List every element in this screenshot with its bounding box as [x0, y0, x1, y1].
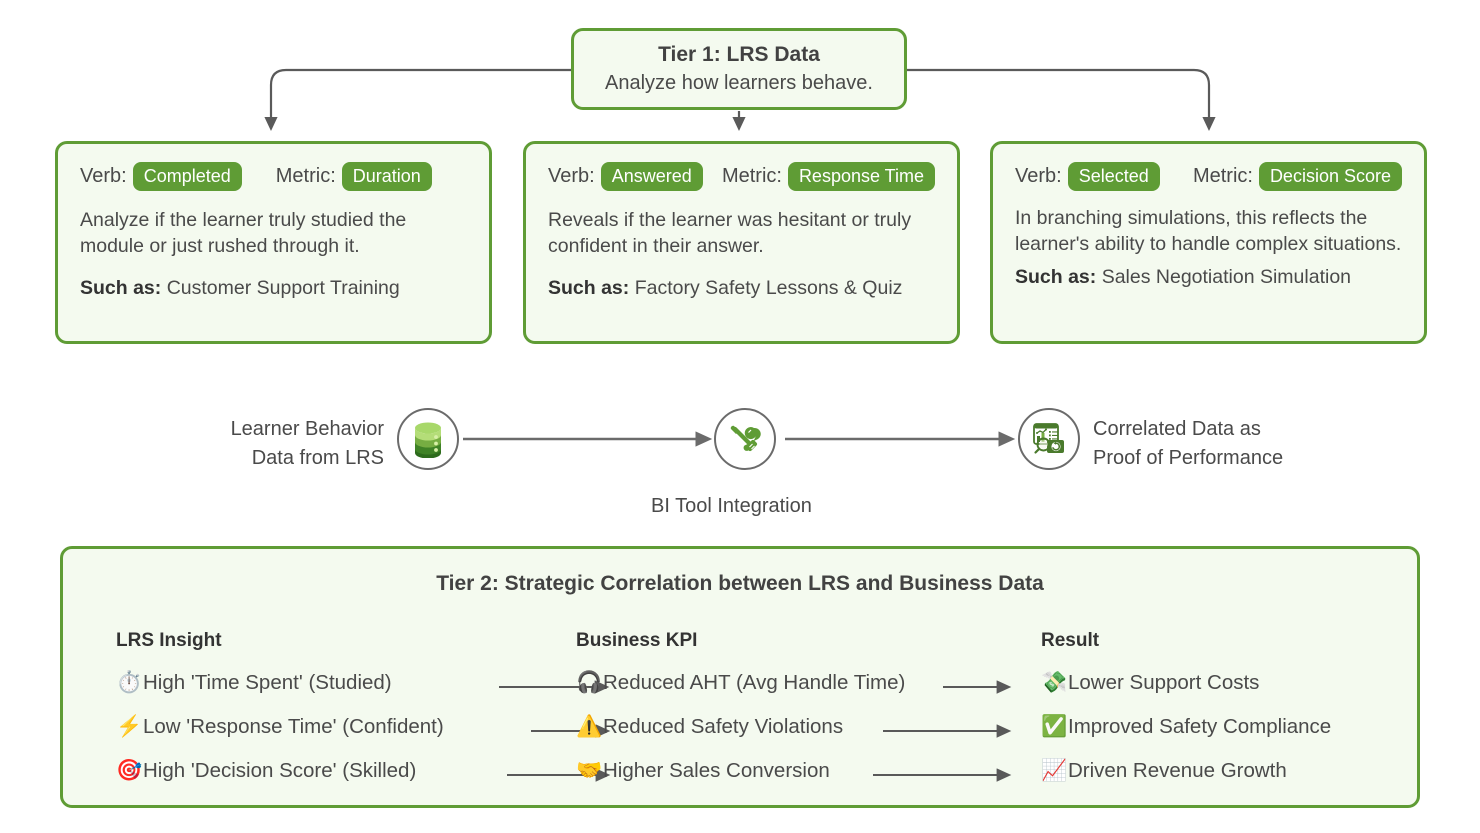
analytics-dashboard-icon	[1030, 420, 1068, 458]
tier1-header-box: Tier 1: LRS Data Analyze how learners be…	[571, 28, 907, 110]
tier1-card-answered: Verb: Answered Metric: Response Time Rev…	[523, 141, 960, 344]
card-tag-row: Verb: Completed Metric: Duration	[80, 162, 467, 191]
flow-target-label: Correlated Data as Proof of Performance	[1093, 415, 1283, 473]
headphones-icon: 🎧	[576, 671, 603, 695]
tier2-result-row: 💸 Lower Support Costs	[1041, 671, 1259, 695]
tier2-insight-text: High 'Decision Score' (Skilled)	[143, 759, 416, 783]
verb-label: Verb:	[1015, 165, 1062, 188]
card-description: Reveals if the learner was hesitant or t…	[548, 207, 935, 260]
tier1-subtitle: Analyze how learners behave.	[605, 72, 873, 95]
card-such-as: Such as: Sales Negotiation Simulation	[1015, 264, 1402, 290]
tier2-result-text: Lower Support Costs	[1068, 671, 1259, 695]
lrs-database-node	[397, 408, 459, 470]
flow-source-label-line2: Data from LRS	[252, 447, 384, 469]
tier2-title: Tier 2: Strategic Correlation between LR…	[63, 572, 1417, 596]
tier2-kpi-row: 🎧 Reduced AHT (Avg Handle Time)	[576, 671, 905, 695]
tier2-result-row: ✅ Improved Safety Compliance	[1041, 715, 1331, 739]
tier2-kpi-row: ⚠️ Reduced Safety Violations	[576, 715, 843, 739]
column-header-business-kpi: Business KPI	[576, 630, 697, 652]
card-description: Analyze if the learner truly studied the…	[80, 207, 467, 260]
tier2-grid: LRS Insight Business KPI Result ⏱️ High …	[63, 596, 1417, 786]
handshake-icon: 🤝	[576, 759, 603, 783]
correlated-data-node	[1018, 408, 1080, 470]
verb-badge: Selected	[1068, 162, 1160, 191]
flow-source-label: Learner Behavior Data from LRS	[196, 415, 384, 473]
money-down-icon: 💸	[1041, 671, 1068, 695]
bi-tool-node	[714, 408, 776, 470]
stopwatch-icon: ⏱️	[116, 671, 143, 695]
tier2-kpi-row: 🤝 Higher Sales Conversion	[576, 759, 830, 783]
bi-flow-row: Learner Behavior Data from LRS	[0, 380, 1480, 530]
tier2-insight-row: ⚡ Low 'Response Time' (Confident)	[116, 715, 444, 739]
such-as-value: Sales Negotiation Simulation	[1102, 266, 1351, 288]
card-such-as: Such as: Factory Safety Lessons & Quiz	[548, 275, 935, 301]
such-as-label: Such as:	[548, 277, 629, 299]
diagram-canvas: Tier 1: LRS Data Analyze how learners be…	[0, 0, 1480, 833]
tier2-result-text: Driven Revenue Growth	[1068, 759, 1287, 783]
metric-badge: Duration	[342, 162, 432, 191]
row1-arrow-2	[943, 680, 1015, 694]
verb-label: Verb:	[80, 165, 127, 188]
such-as-value: Customer Support Training	[167, 277, 400, 299]
target-icon: 🎯	[116, 759, 143, 783]
tier2-insight-row: ⏱️ High 'Time Spent' (Studied)	[116, 671, 392, 695]
flow-source-label-line1: Learner Behavior	[231, 418, 384, 440]
tier2-insight-text: High 'Time Spent' (Studied)	[143, 671, 392, 695]
card-tag-row: Verb: Selected Metric: Decision Score	[1015, 162, 1402, 191]
check-circle-icon: ✅	[1041, 715, 1068, 739]
verb-label: Verb:	[548, 165, 595, 188]
flow-middle-label: BI Tool Integration	[651, 492, 812, 521]
row2-arrow-2	[883, 724, 1015, 738]
flow-target-label-line1: Correlated Data as	[1093, 418, 1261, 440]
metric-label: Metric:	[1193, 165, 1253, 188]
tools-icon	[727, 421, 763, 457]
tier1-card-completed: Verb: Completed Metric: Duration Analyze…	[55, 141, 492, 344]
row3-arrow-2	[873, 768, 1015, 782]
column-header-lrs-insight: LRS Insight	[116, 630, 222, 652]
metric-badge: Decision Score	[1259, 162, 1402, 191]
warning-down-icon: ⚠️	[576, 715, 603, 739]
metric-label: Metric:	[276, 165, 336, 188]
tier2-insight-row: 🎯 High 'Decision Score' (Skilled)	[116, 759, 416, 783]
tier2-result-text: Improved Safety Compliance	[1068, 715, 1331, 739]
verb-badge: Completed	[133, 162, 242, 191]
card-tag-row: Verb: Answered Metric: Response Time	[548, 162, 935, 191]
such-as-label: Such as:	[80, 277, 161, 299]
chart-up-icon: 📈	[1041, 759, 1068, 783]
column-header-result: Result	[1041, 630, 1099, 652]
tier1-title: Tier 1: LRS Data	[658, 43, 820, 67]
verb-badge: Answered	[601, 162, 703, 191]
database-icon	[410, 420, 446, 458]
card-such-as: Such as: Customer Support Training	[80, 275, 467, 301]
flow-target-label-line2: Proof of Performance	[1093, 447, 1283, 469]
lightning-icon: ⚡	[116, 715, 143, 739]
tier2-kpi-text: Reduced Safety Violations	[603, 715, 843, 739]
such-as-label: Such as:	[1015, 266, 1096, 288]
tier2-kpi-text: Reduced AHT (Avg Handle Time)	[603, 671, 905, 695]
tier2-kpi-text: Higher Sales Conversion	[603, 759, 830, 783]
card-description: In branching simulations, this reflects …	[1015, 205, 1402, 258]
metric-badge: Response Time	[788, 162, 935, 191]
metric-label: Metric:	[722, 165, 782, 188]
tier2-panel: Tier 2: Strategic Correlation between LR…	[60, 546, 1420, 808]
such-as-value: Factory Safety Lessons & Quiz	[635, 277, 903, 299]
tier1-card-selected: Verb: Selected Metric: Decision Score In…	[990, 141, 1427, 344]
tier2-insight-text: Low 'Response Time' (Confident)	[143, 715, 444, 739]
tier2-result-row: 📈 Driven Revenue Growth	[1041, 759, 1287, 783]
